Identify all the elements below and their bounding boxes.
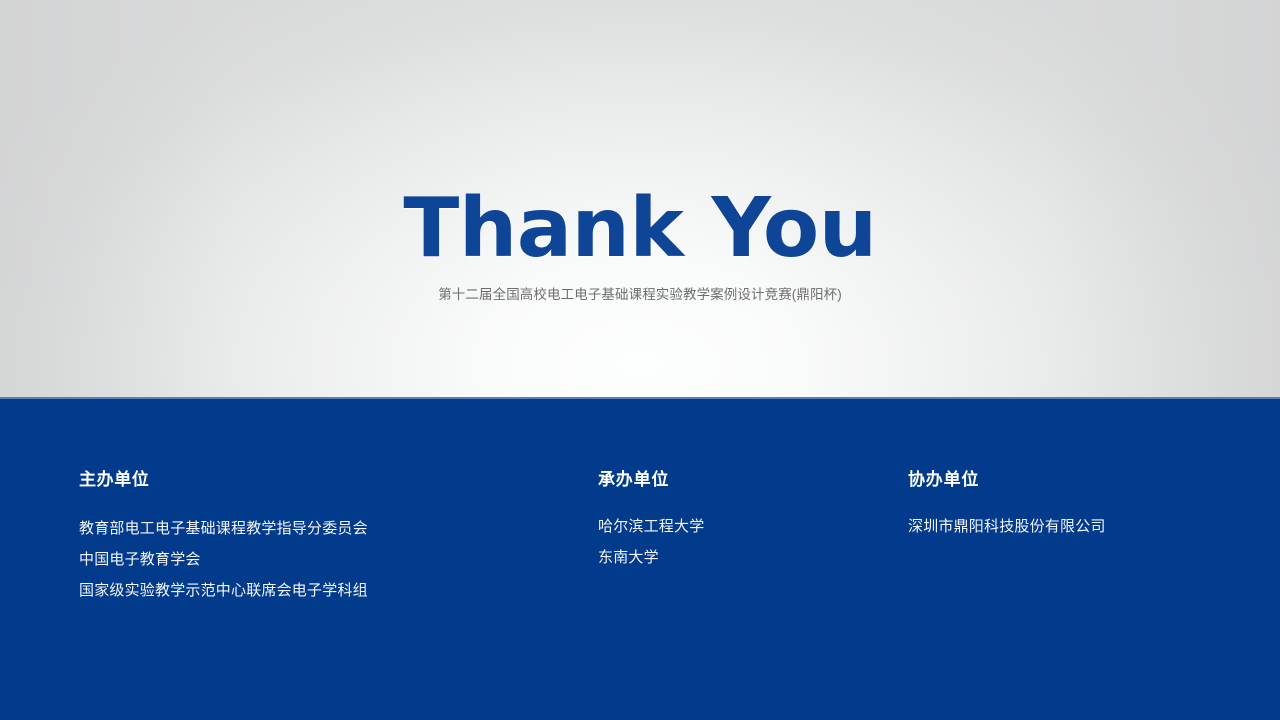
list-item: 深圳市鼎阳科技股份有限公司 (908, 511, 1228, 542)
list-item: 中国电子教育学会 (79, 544, 559, 575)
list-item: 东南大学 (598, 542, 878, 573)
hero-content: Thank You 第十二届全国高校电工电子基础课程实验教学案例设计竞赛(鼎阳杯… (0, 0, 1280, 397)
credits-columns: 主办单位 教育部电工电子基础课程教学指导分委员会 中国电子教育学会 国家级实验教… (0, 397, 1280, 720)
thank-you-slide: Thank You 第十二届全国高校电工电子基础课程实验教学案例设计竞赛(鼎阳杯… (0, 0, 1280, 720)
cohost-heading: 协办单位 (908, 468, 1228, 492)
list-item: 哈尔滨工程大学 (598, 511, 878, 542)
credits-column-cohost: 协办单位 深圳市鼎阳科技股份有限公司 (908, 468, 1228, 542)
organizer-list: 教育部电工电子基础课程教学指导分委员会 中国电子教育学会 国家级实验教学示范中心… (79, 513, 559, 606)
hero-background: Thank You 第十二届全国高校电工电子基础课程实验教学案例设计竞赛(鼎阳杯… (0, 0, 1280, 397)
list-item: 国家级实验教学示范中心联席会电子学科组 (79, 575, 559, 606)
competition-subtitle: 第十二届全国高校电工电子基础课程实验教学案例设计竞赛(鼎阳杯) (0, 285, 1280, 305)
page-title: Thank You (0, 183, 1280, 275)
host-list: 哈尔滨工程大学 东南大学 (598, 511, 878, 573)
host-heading: 承办单位 (598, 468, 878, 492)
credits-column-organizer: 主办单位 教育部电工电子基础课程教学指导分委员会 中国电子教育学会 国家级实验教… (79, 468, 559, 606)
credits-panel: 主办单位 教育部电工电子基础课程教学指导分委员会 中国电子教育学会 国家级实验教… (0, 397, 1280, 720)
organizer-heading: 主办单位 (79, 468, 559, 492)
credits-column-host: 承办单位 哈尔滨工程大学 东南大学 (598, 468, 878, 573)
cohost-list: 深圳市鼎阳科技股份有限公司 (908, 511, 1228, 542)
list-item: 教育部电工电子基础课程教学指导分委员会 (79, 513, 559, 544)
